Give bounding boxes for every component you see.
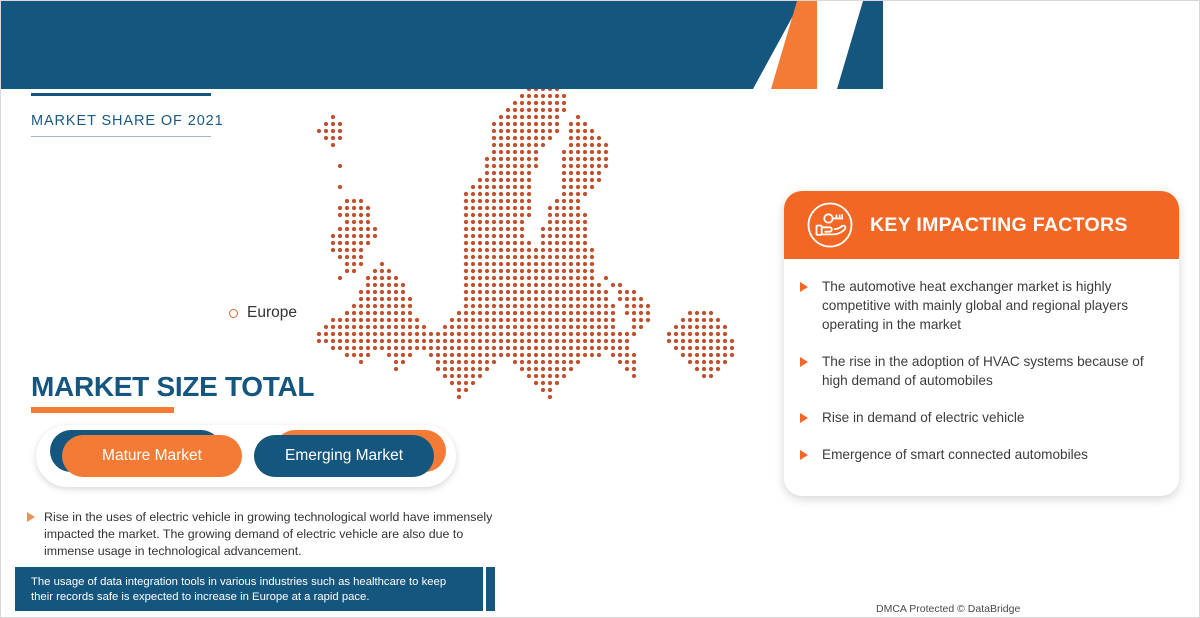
market-share-rule-bottom bbox=[31, 136, 211, 137]
hand-holding-key-icon bbox=[806, 201, 854, 249]
list-item-text: Emergence of smart connected automobiles bbox=[822, 445, 1088, 464]
key-impacting-factors-title: KEY IMPACTING FACTORS bbox=[870, 214, 1128, 237]
list-item-text: The automotive heat exchanger market is … bbox=[822, 277, 1159, 334]
list-item-text: The rise in the adoption of HVAC systems… bbox=[822, 352, 1159, 390]
market-size-note-text: Rise in the uses of electric vehicle in … bbox=[44, 509, 497, 560]
triangle-bullet-icon bbox=[800, 450, 808, 460]
bottom-callout-divider bbox=[483, 567, 486, 611]
list-item: The automotive heat exchanger market is … bbox=[800, 277, 1159, 334]
mature-market-pill-group: Mature Market bbox=[50, 435, 242, 477]
market-size-total-underline bbox=[31, 407, 174, 413]
header-bar bbox=[1, 1, 801, 89]
infographic-page: EMERGING VS MATURE EUROPE AUTOMOTIVE HEA… bbox=[0, 0, 1200, 618]
market-share-label: MARKET SHARE OF 2021 bbox=[31, 113, 224, 136]
list-item: The rise in the adoption of HVAC systems… bbox=[800, 352, 1159, 390]
key-impacting-factors-header: KEY IMPACTING FACTORS bbox=[784, 191, 1179, 259]
market-share-block: MARKET SHARE OF 2021 bbox=[31, 93, 224, 137]
market-share-rule-top bbox=[31, 93, 211, 96]
emerging-market-pill-group: Emerging Market bbox=[254, 435, 446, 477]
triangle-bullet-icon bbox=[27, 512, 35, 522]
key-impacting-factors-list: The automotive heat exchanger market is … bbox=[784, 259, 1179, 464]
market-type-pill-card: Mature Market Emerging Market bbox=[36, 425, 456, 487]
market-size-note: Rise in the uses of electric vehicle in … bbox=[27, 509, 497, 560]
list-item: Emergence of smart connected automobiles bbox=[800, 445, 1159, 464]
triangle-bullet-icon bbox=[800, 357, 808, 367]
emerging-market-pill[interactable]: Emerging Market bbox=[254, 435, 434, 477]
bottom-callout-bar: The usage of data integration tools in v… bbox=[15, 567, 495, 611]
dmca-notice: DMCA Protected © DataBridge bbox=[876, 603, 1020, 615]
market-size-total-title: MARKET SIZE TOTAL bbox=[31, 371, 314, 403]
circle-ring-icon bbox=[229, 309, 238, 318]
map-legend-label: Europe bbox=[247, 304, 297, 322]
mature-market-pill[interactable]: Mature Market bbox=[62, 435, 242, 477]
bottom-callout-text: The usage of data integration tools in v… bbox=[31, 575, 463, 605]
map-legend-europe: Europe bbox=[229, 304, 297, 322]
market-size-total-block: MARKET SIZE TOTAL bbox=[31, 371, 314, 413]
list-item-text: Rise in demand of electric vehicle bbox=[822, 408, 1025, 427]
triangle-bullet-icon bbox=[800, 413, 808, 423]
list-item: Rise in demand of electric vehicle bbox=[800, 408, 1159, 427]
key-impacting-factors-card: KEY IMPACTING FACTORS The automotive hea… bbox=[784, 191, 1179, 496]
triangle-bullet-icon bbox=[800, 282, 808, 292]
